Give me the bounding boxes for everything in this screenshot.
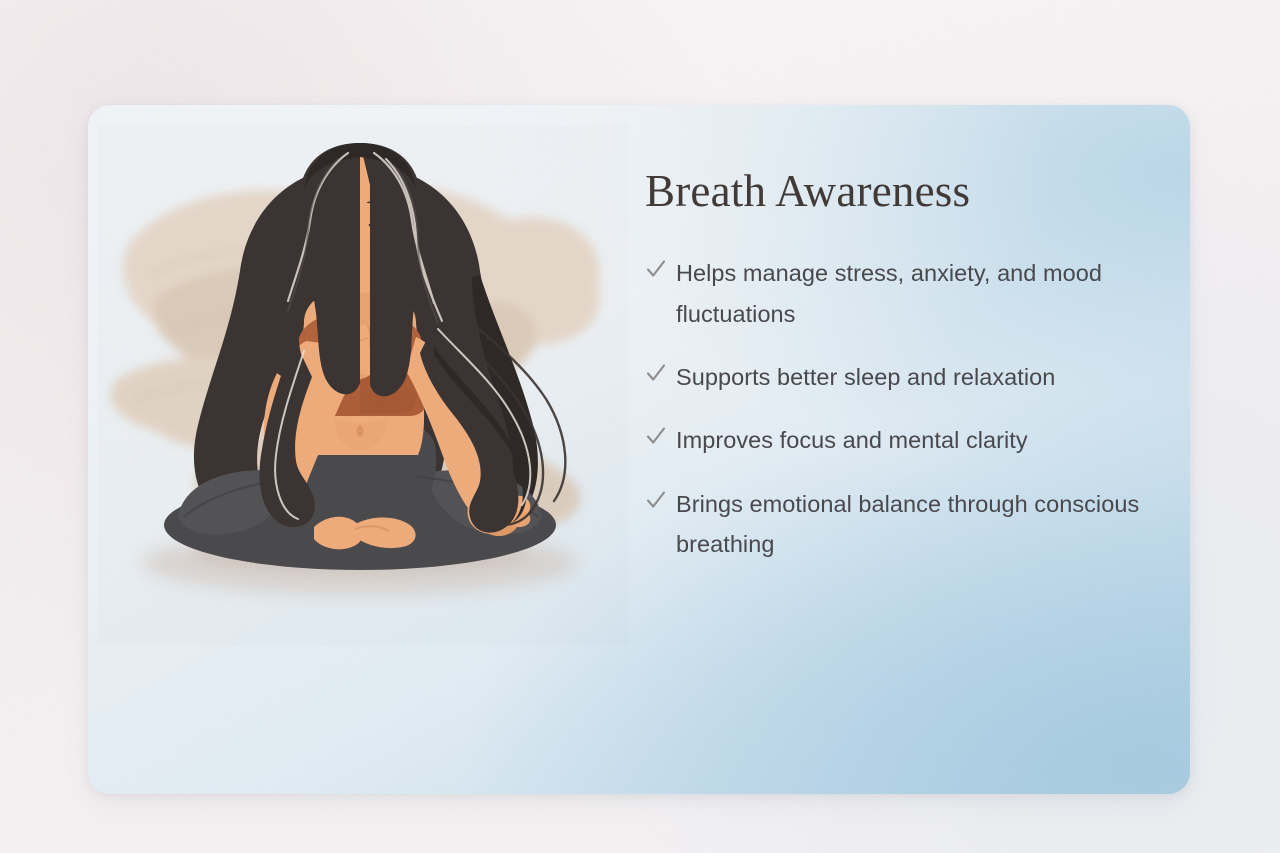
check-icon — [645, 423, 667, 449]
benefit-text: Improves focus and mental clarity — [676, 420, 1028, 460]
check-icon — [645, 487, 667, 513]
check-icon — [645, 360, 667, 386]
benefit-text: Helps manage stress, anxiety, and mood f… — [676, 253, 1146, 334]
woman-meditating-lotus-pose-illustration — [98, 125, 628, 645]
benefit-list: Helps manage stress, anxiety, and mood f… — [645, 253, 1165, 564]
page-title: Breath Awareness — [645, 168, 1165, 215]
card-content: Breath Awareness Helps manage stress, an… — [645, 168, 1165, 565]
list-item: Brings emotional balance through conscio… — [645, 484, 1165, 565]
check-icon — [645, 256, 667, 282]
list-item: Improves focus and mental clarity — [645, 420, 1165, 460]
list-item: Helps manage stress, anxiety, and mood f… — [645, 253, 1165, 334]
breath-awareness-card: Breath Awareness Helps manage stress, an… — [88, 105, 1190, 794]
benefit-text: Supports better sleep and relaxation — [676, 357, 1055, 397]
list-item: Supports better sleep and relaxation — [645, 357, 1165, 397]
benefit-text: Brings emotional balance through conscio… — [676, 484, 1146, 565]
